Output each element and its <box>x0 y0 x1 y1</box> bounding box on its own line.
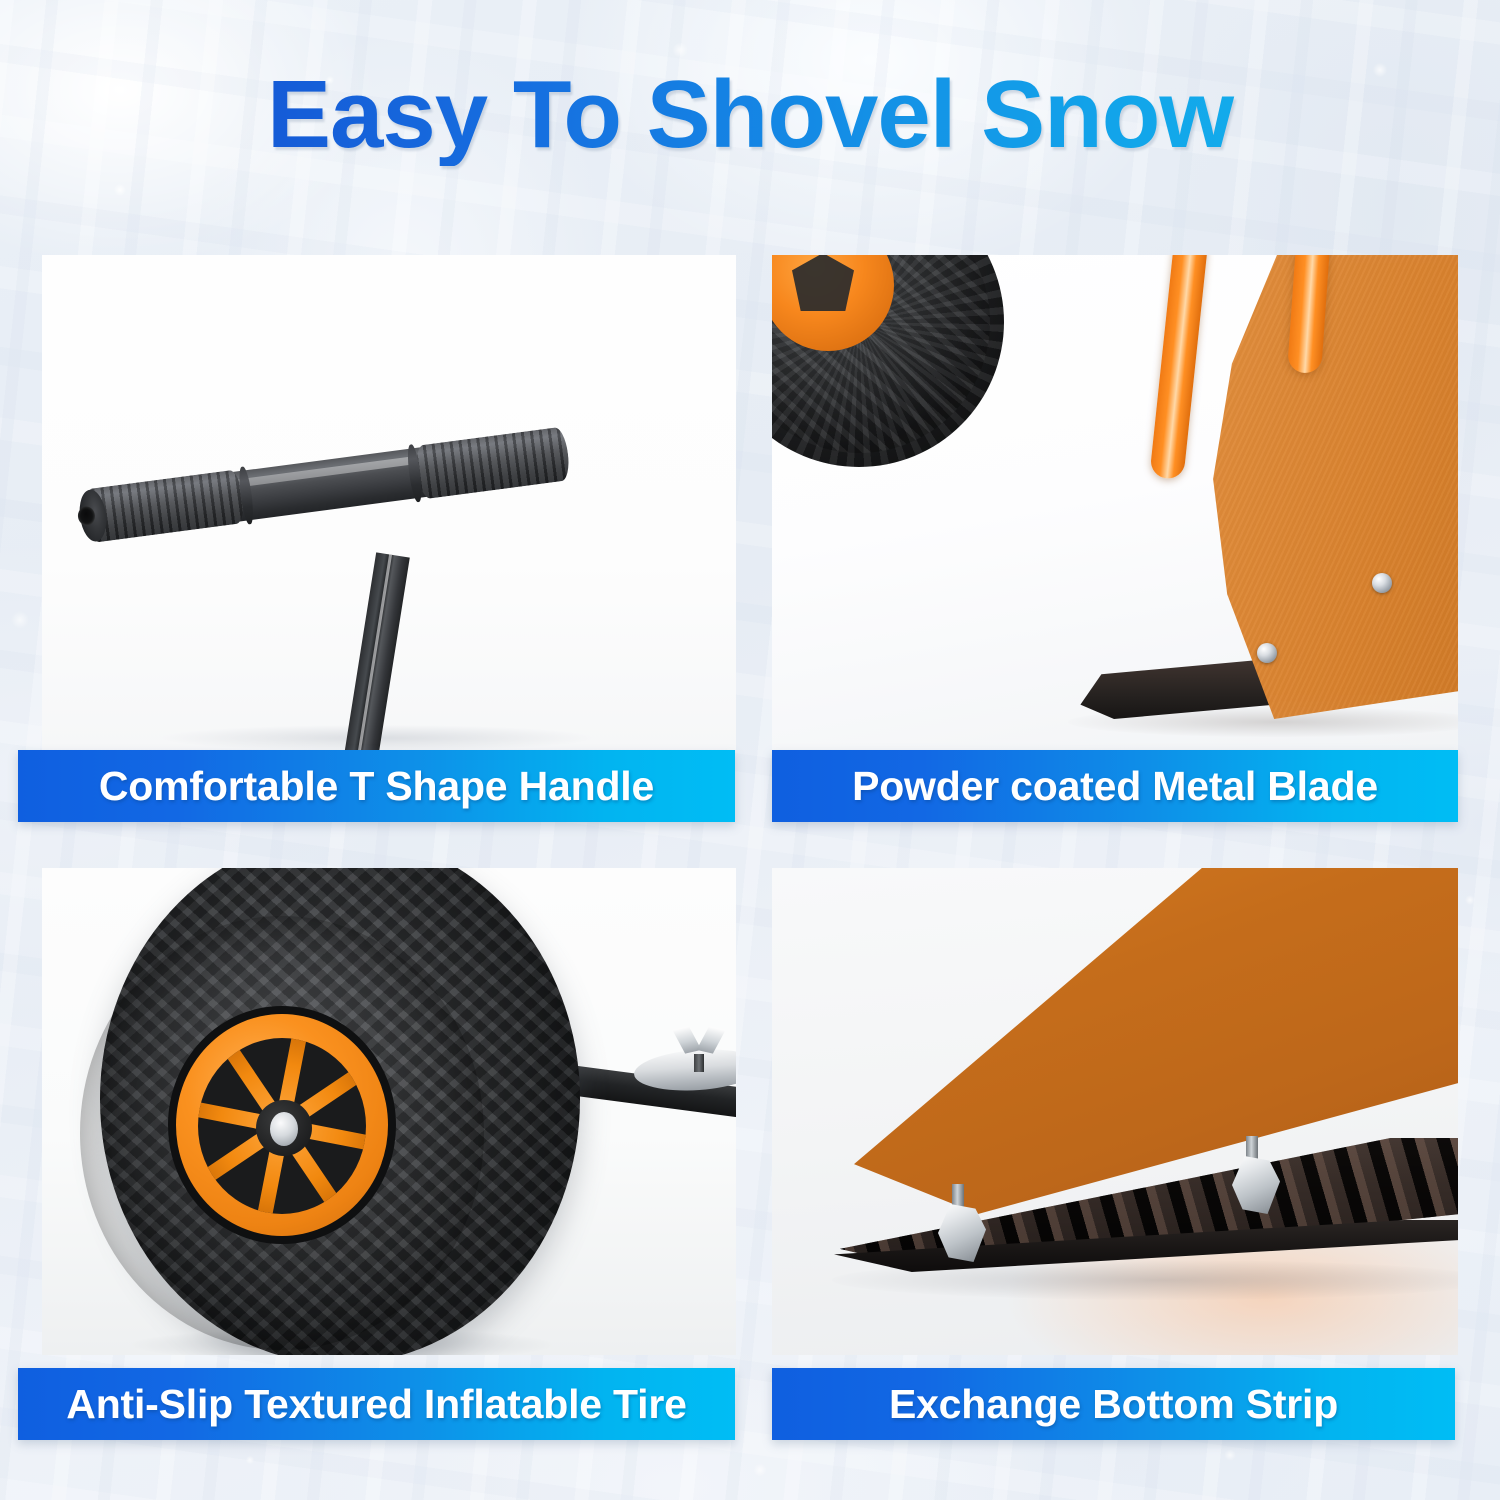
blade-rivet-1 <box>1372 573 1392 593</box>
feature-panel-inflatable-tire <box>42 868 736 1355</box>
hex-bolt-head <box>1232 1156 1280 1214</box>
hex-bolt-2 <box>1232 1156 1280 1214</box>
feature-panel-t-handle <box>42 255 736 750</box>
page-title: Easy To Shovel Snow <box>0 64 1500 166</box>
hex-bolt-1 <box>938 1204 986 1262</box>
feature-panel-bottom-strip <box>772 868 1458 1355</box>
caption-bar-t-handle: Comfortable T Shape Handle <box>18 750 735 822</box>
caption-label: Powder coated Metal Blade <box>772 763 1458 810</box>
bottom-strip-photo <box>772 868 1458 1355</box>
t-shape-handle-photo <box>42 255 736 750</box>
infographic-canvas: Easy To Shovel Snow Comfortable T Shape … <box>0 0 1500 1500</box>
wing-nut <box>678 1026 724 1060</box>
caption-bar-bottom-strip: Exchange Bottom Strip <box>772 1368 1455 1440</box>
hub-bearing <box>270 1112 298 1146</box>
hex-bolt-head <box>938 1204 986 1262</box>
caption-bar-metal-blade: Powder coated Metal Blade <box>772 750 1458 822</box>
metal-blade-photo <box>772 255 1458 750</box>
caption-label: Anti-Slip Textured Inflatable Tire <box>18 1381 735 1428</box>
caption-label: Comfortable T Shape Handle <box>18 763 735 810</box>
inflatable-tire-photo <box>42 868 736 1355</box>
blade-rivet-2 <box>1257 643 1277 663</box>
caption-label: Exchange Bottom Strip <box>772 1381 1455 1428</box>
caption-bar-inflatable-tire: Anti-Slip Textured Inflatable Tire <box>18 1368 735 1440</box>
feature-panel-metal-blade <box>772 255 1458 750</box>
